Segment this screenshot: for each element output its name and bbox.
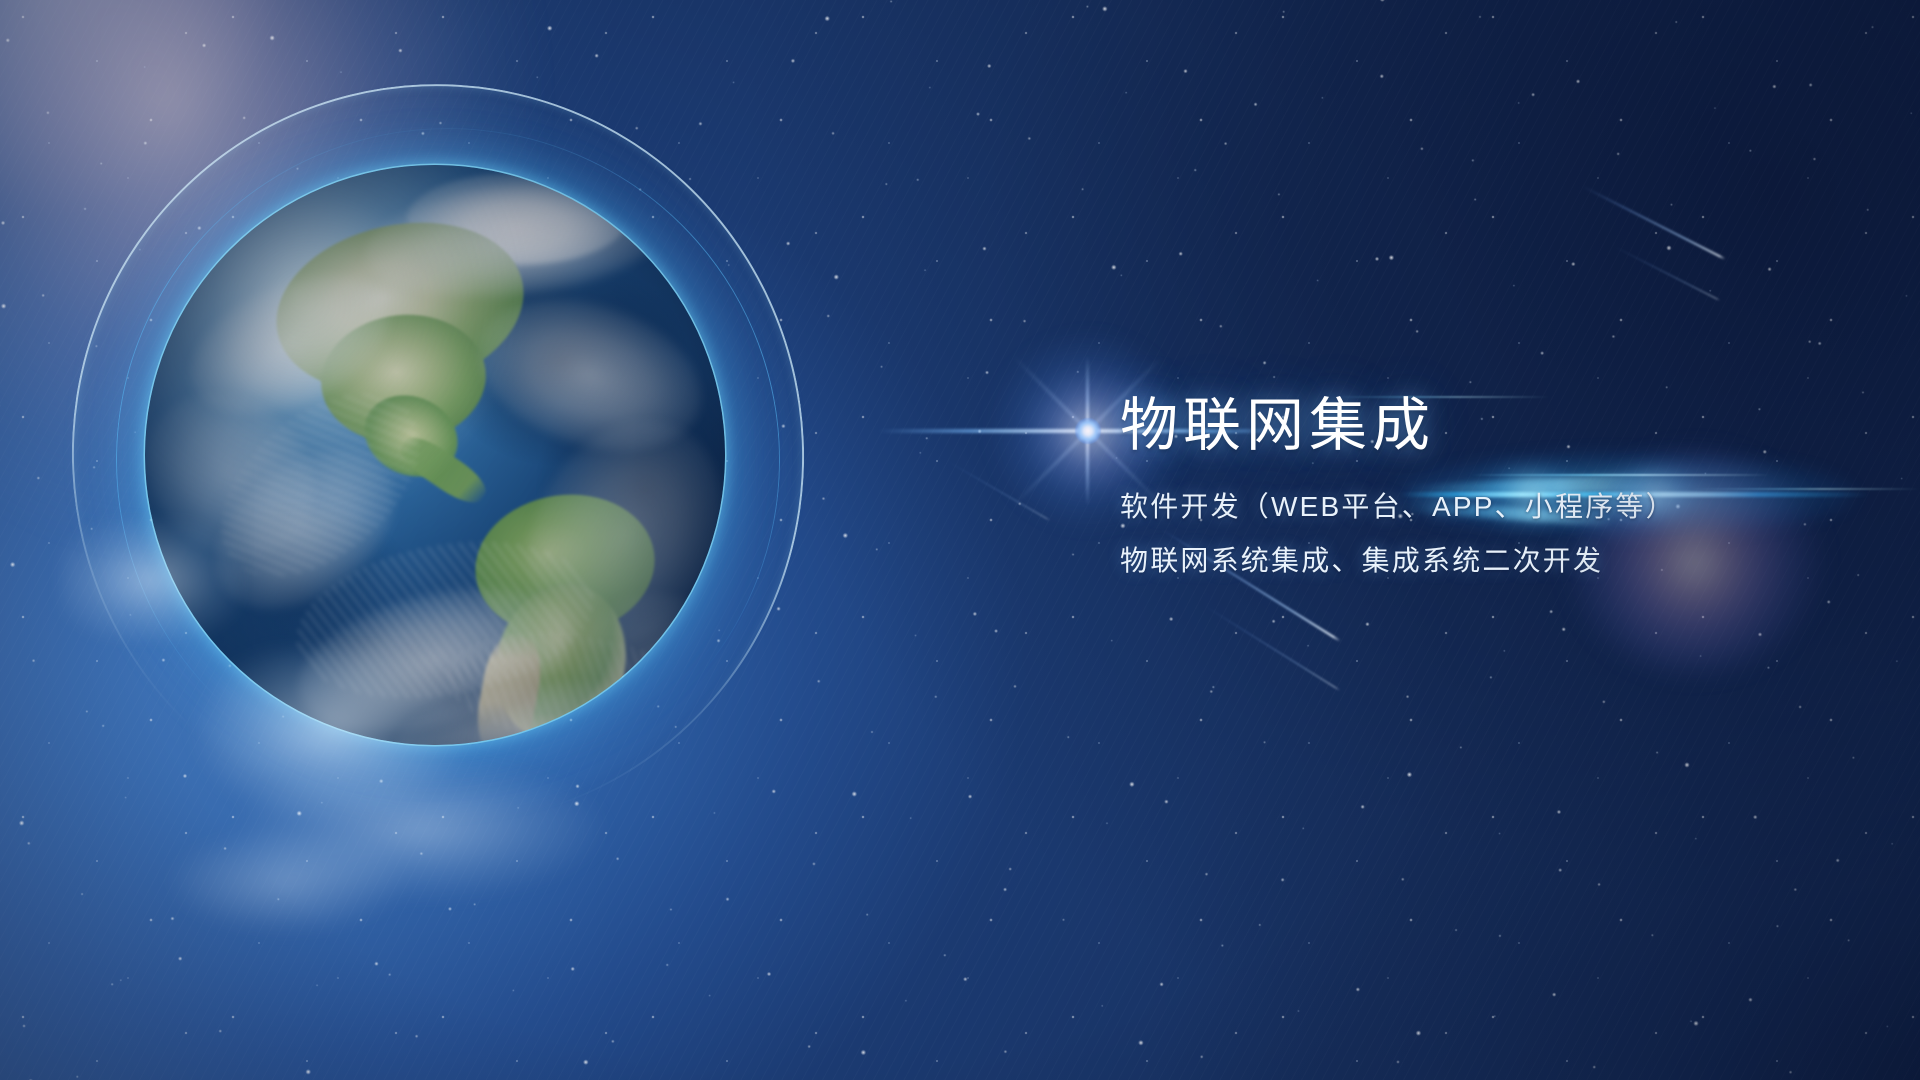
vignette-overlay bbox=[0, 0, 1920, 1080]
hero-banner: 物联网集成 软件开发（WEB平台、APP、小程序等） 物联网系统集成、集成系统二… bbox=[0, 0, 1920, 1080]
